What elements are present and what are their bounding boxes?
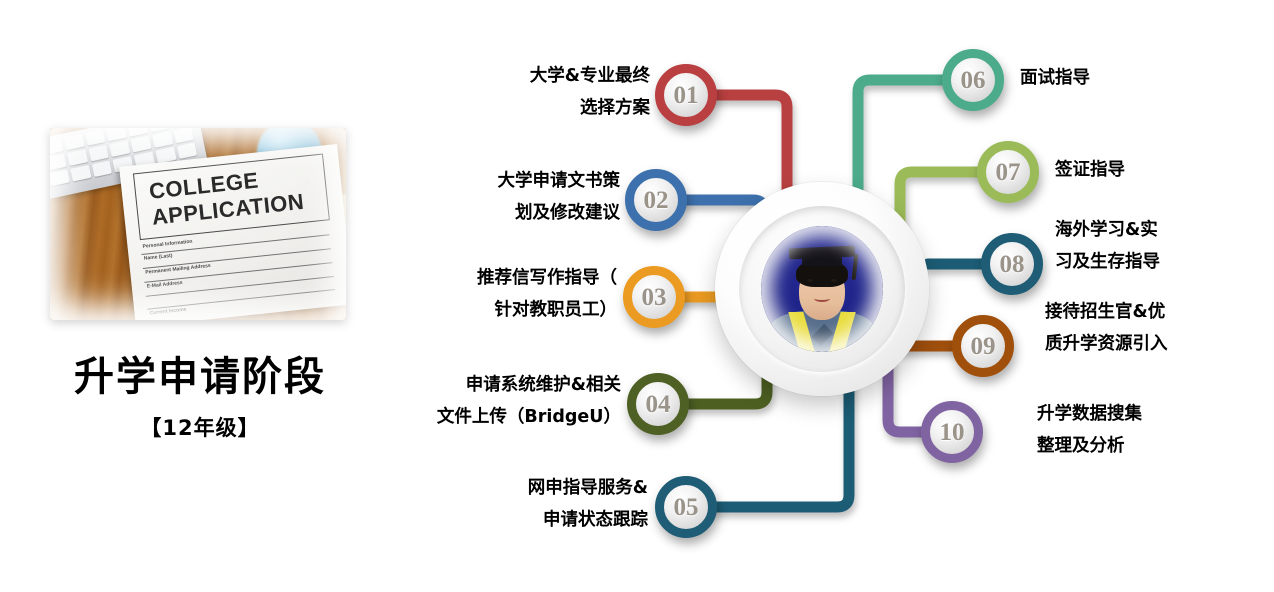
step-label-08-line2: 习及生存指导 <box>1055 246 1274 278</box>
step-label-03-line1: 推荐信写作指导（ <box>395 262 617 294</box>
step-badge-07[interactable]: 07 <box>977 141 1039 203</box>
step-label-05: 网申指导服务& 申请状态跟踪 <box>435 472 648 536</box>
step-label-06-line1: 面试指导 <box>1020 62 1260 94</box>
step-label-02-line1: 大学申请文书策 <box>405 165 620 197</box>
connector-01 <box>700 95 787 205</box>
step-label-08-line1: 海外学习&实 <box>1055 214 1274 246</box>
step-badge-06[interactable]: 06 <box>942 49 1004 111</box>
step-number-03: 03 <box>642 285 667 310</box>
step-label-05-line2: 申请状态跟踪 <box>435 504 648 536</box>
step-number-06: 06 <box>961 68 986 93</box>
step-label-09: 接待招生官&优 质升学资源引入 <box>1045 296 1274 360</box>
process-diagram: 01 02 03 04 05 06 07 08 09 10 大学& <box>400 0 1274 592</box>
step-label-04: 申请系统维护&相关 文件上传（BridgeU） <box>397 369 621 433</box>
step-badge-10[interactable]: 10 <box>921 401 983 463</box>
step-badge-08[interactable]: 08 <box>981 233 1043 295</box>
step-label-10: 升学数据搜集 整理及分析 <box>1037 398 1265 462</box>
step-number-01: 01 <box>674 83 699 108</box>
step-label-09-line1: 接待招生官&优 <box>1045 296 1274 328</box>
step-label-05-line1: 网申指导服务& <box>435 472 648 504</box>
form-field-lines: Personal Information Name (Last) Permane… <box>140 223 335 320</box>
step-badge-01[interactable]: 01 <box>655 64 717 126</box>
step-label-10-line1: 升学数据搜集 <box>1037 398 1265 430</box>
page-subtitle: 【12年级】 <box>0 412 400 442</box>
step-label-04-line1: 申请系统维护&相关 <box>397 369 621 401</box>
step-label-09-line2: 质升学资源引入 <box>1045 328 1274 360</box>
step-number-10: 10 <box>940 420 965 445</box>
hub-inner-ring <box>739 206 905 372</box>
center-hub <box>715 182 929 396</box>
step-label-02: 大学申请文书策 划及修改建议 <box>405 165 620 229</box>
step-number-08: 08 <box>1000 252 1025 277</box>
step-label-06: 面试指导 <box>1020 62 1260 94</box>
application-form-paper: COLLEGE APPLICATION Personal Information… <box>119 144 346 320</box>
step-label-01-line2: 选择方案 <box>435 92 650 124</box>
step-label-02-line2: 划及修改建议 <box>405 197 620 229</box>
step-label-10-line2: 整理及分析 <box>1037 430 1265 462</box>
step-label-03-line2: 针对教职员工） <box>395 294 617 326</box>
step-label-07: 签证指导 <box>1055 154 1270 186</box>
step-badge-03[interactable]: 03 <box>623 266 685 328</box>
left-panel: COLLEGE APPLICATION Personal Information… <box>0 0 400 592</box>
step-label-07-line1: 签证指导 <box>1055 154 1270 186</box>
step-badge-04[interactable]: 04 <box>627 373 689 435</box>
form-field-0: Personal Information <box>142 238 192 249</box>
step-number-07: 07 <box>996 160 1021 185</box>
portrait-vignette <box>761 226 883 352</box>
step-badge-05[interactable]: 05 <box>655 476 717 538</box>
graduate-portrait-photo <box>761 226 883 352</box>
step-badge-02[interactable]: 02 <box>625 169 687 231</box>
step-number-05: 05 <box>674 495 699 520</box>
step-label-01: 大学&专业最终 选择方案 <box>435 60 650 124</box>
step-label-08: 海外学习&实 习及生存指导 <box>1055 214 1274 278</box>
step-number-04: 04 <box>646 392 671 417</box>
step-label-01-line1: 大学&专业最终 <box>435 60 650 92</box>
step-badge-09[interactable]: 09 <box>952 315 1014 377</box>
infographic-canvas: COLLEGE APPLICATION Personal Information… <box>0 0 1274 592</box>
step-label-03: 推荐信写作指导（ 针对教职员工） <box>395 262 617 326</box>
page-title: 升学申请阶段 <box>0 344 400 402</box>
step-label-04-line2: 文件上传（BridgeU） <box>397 401 621 433</box>
college-application-photo: COLLEGE APPLICATION Personal Information… <box>50 128 346 320</box>
step-number-02: 02 <box>644 188 669 213</box>
step-number-09: 09 <box>971 334 996 359</box>
